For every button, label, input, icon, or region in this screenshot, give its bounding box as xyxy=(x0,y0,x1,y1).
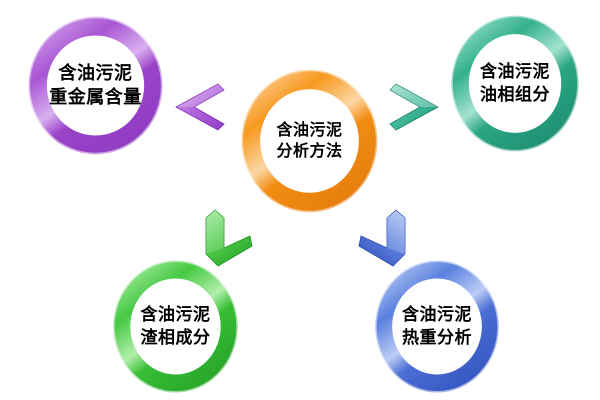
node-tga-label: 含油污泥 热重分析 xyxy=(402,304,472,349)
node-residue-label: 含油污泥 渣相成分 xyxy=(141,304,211,349)
arrow-to-heavy-metal-icon xyxy=(168,78,228,134)
node-oil-phase-label: 含油污泥 油相组分 xyxy=(480,61,550,106)
label-line-1: 含油污泥 xyxy=(402,304,472,326)
label-line-1: 含油污泥 xyxy=(49,62,142,86)
arrow-to-oil-phase-icon xyxy=(386,78,446,134)
label-line-2: 分析方法 xyxy=(276,141,342,162)
node-heavy-metal-content[interactable]: 含油污泥 重金属含量 xyxy=(25,13,166,158)
arrow-to-residue-icon xyxy=(198,208,256,270)
label-line-2: 热重分析 xyxy=(402,327,472,349)
label-line-2: 渣相成分 xyxy=(141,327,211,349)
node-heavy-metal-label: 含油污泥 重金属含量 xyxy=(49,62,142,110)
arrow-to-tga-icon xyxy=(355,208,413,270)
label-line-1: 含油污泥 xyxy=(480,61,550,83)
node-thermogravimetric-analysis[interactable]: 含油污泥 热重分析 xyxy=(372,257,502,396)
label-line-2: 油相组分 xyxy=(480,84,550,106)
label-line-2: 重金属含量 xyxy=(49,86,142,110)
node-center-label: 含油污泥 分析方法 xyxy=(276,120,342,162)
node-center-analysis-methods[interactable]: 含油污泥 分析方法 xyxy=(238,66,381,216)
node-oil-phase-composition[interactable]: 含油污泥 油相组分 xyxy=(448,12,582,155)
node-residue-phase-composition[interactable]: 含油污泥 渣相成分 xyxy=(110,257,241,396)
label-line-1: 含油污泥 xyxy=(276,120,342,141)
diagram-canvas: 含油污泥 重金属含量 含油污泥 油相组分 xyxy=(0,0,600,400)
label-line-1: 含油污泥 xyxy=(141,304,211,326)
